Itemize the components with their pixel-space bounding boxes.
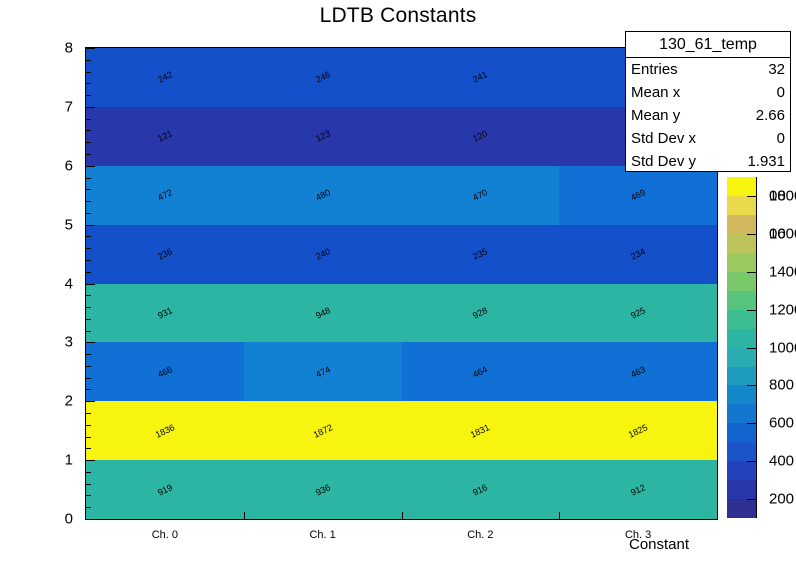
palette-swatch xyxy=(727,366,756,385)
y-axis-minor-tick xyxy=(86,366,91,367)
stats-row-value: 1.931 xyxy=(747,150,785,173)
palette-tick-label: 800 xyxy=(769,377,794,394)
x-axis-divider-tick xyxy=(244,512,245,519)
y-axis-minor-tick xyxy=(86,201,91,202)
palette-swatch xyxy=(727,234,756,253)
palette-tick xyxy=(747,348,756,349)
palette-swatch xyxy=(727,404,756,423)
y-axis-minor-tick xyxy=(86,119,91,120)
y-axis-minor-tick xyxy=(86,213,91,214)
palette-swatch xyxy=(727,329,756,348)
stats-row-value: 32 xyxy=(768,58,785,81)
y-axis-tick-label: 1 xyxy=(65,452,73,469)
y-axis-minor-tick xyxy=(86,413,91,414)
y-axis-minor-tick xyxy=(86,425,91,426)
palette-swatch xyxy=(727,480,756,499)
stats-row-value: 0 xyxy=(777,81,785,104)
y-axis-minor-tick xyxy=(86,319,91,320)
y-axis-tick-label: 5 xyxy=(65,216,73,233)
stats-row: Std Dev x0 xyxy=(626,127,790,150)
palette-swatch xyxy=(727,348,756,367)
x-axis-tick-label: Ch. 2 xyxy=(467,529,493,541)
palette-tick xyxy=(747,310,756,311)
stats-row: Std Dev y1.931 xyxy=(626,150,790,173)
y-axis-minor-tick xyxy=(86,154,91,155)
palette-swatch xyxy=(727,196,756,215)
y-axis-tick xyxy=(86,225,95,226)
palette-tick-label: 200 xyxy=(769,491,794,508)
x-axis-tick-label: Ch. 0 xyxy=(152,529,178,541)
plot-frame: 2422462411211231204724804704692362402352… xyxy=(85,47,718,520)
stats-row-value: 0 xyxy=(777,127,785,150)
y-axis-tick-label: 6 xyxy=(65,157,73,174)
y-axis-minor-tick xyxy=(86,130,91,131)
heatmap-cells: 2422462411211231204724804704692362402352… xyxy=(86,48,717,519)
y-axis-minor-tick xyxy=(86,178,91,179)
y-axis-minor-tick xyxy=(86,484,91,485)
y-axis-tick xyxy=(86,342,95,343)
y-axis-minor-tick xyxy=(86,83,91,84)
palette-axis-line xyxy=(756,177,757,518)
stats-row-key: Mean y xyxy=(631,104,680,127)
y-axis-tick xyxy=(86,48,95,49)
color-palette: 20040060080010001200140016001800 xyxy=(727,177,756,518)
y-axis-minor-tick xyxy=(86,389,91,390)
y-axis-minor-tick xyxy=(86,307,91,308)
y-axis-minor-tick xyxy=(86,448,91,449)
y-axis-tick xyxy=(86,166,95,167)
palette-tick-label: 1400 xyxy=(769,263,796,280)
palette-swatch xyxy=(727,442,756,461)
palette-tick xyxy=(747,196,756,197)
stats-box-rows: Entries32Mean x0Mean y2.66Std Dev x0Std … xyxy=(626,58,790,173)
y-axis-minor-tick xyxy=(86,60,91,61)
y-axis-minor-tick xyxy=(86,437,91,438)
palette-swatch xyxy=(727,461,756,480)
y-axis-minor-tick xyxy=(86,495,91,496)
palette-tick xyxy=(747,234,756,235)
palette-swatch xyxy=(727,499,756,518)
palette-tick-label: 1000 xyxy=(769,339,796,356)
y-axis-minor-tick xyxy=(86,295,91,296)
palette-tick xyxy=(747,423,756,424)
palette-tick-label-occluded: 00 xyxy=(769,187,786,204)
palette-tick xyxy=(747,385,756,386)
y-axis-tick xyxy=(86,107,95,108)
palette-tick xyxy=(747,272,756,273)
y-axis-tick-label: 4 xyxy=(65,275,73,292)
stats-row: Mean x0 xyxy=(626,81,790,104)
y-axis-tick-label: 0 xyxy=(65,511,73,528)
y-axis-minor-tick xyxy=(86,472,91,473)
stats-row-key: Entries xyxy=(631,58,678,81)
y-axis-minor-tick xyxy=(86,260,91,261)
x-axis-divider-tick xyxy=(559,512,560,519)
y-axis-tick xyxy=(86,284,95,285)
stats-row-value: 2.66 xyxy=(756,104,785,127)
y-axis-tick-label: 2 xyxy=(65,393,73,410)
palette-tick-label: 600 xyxy=(769,415,794,432)
y-axis-tick-label: 8 xyxy=(65,40,73,57)
x-axis-title: Constant xyxy=(629,536,689,553)
palette-swatch xyxy=(727,385,756,404)
page-title: LDTB Constants xyxy=(0,4,796,28)
palette-swatch xyxy=(727,272,756,291)
stats-row-key: Std Dev y xyxy=(631,150,696,173)
y-axis-minor-tick xyxy=(86,189,91,190)
palette-tick xyxy=(747,461,756,462)
y-axis-tick-label: 3 xyxy=(65,334,73,351)
stats-row-key: Std Dev x xyxy=(631,127,696,150)
y-axis-minor-tick xyxy=(86,236,91,237)
palette-swatch xyxy=(727,423,756,442)
y-axis-minor-tick xyxy=(86,95,91,96)
stats-row-key: Mean x xyxy=(631,81,680,104)
y-axis-minor-tick xyxy=(86,248,91,249)
stats-box-title: 130_61_temp xyxy=(626,32,790,58)
palette-tick-label: 400 xyxy=(769,453,794,470)
root-canvas: LDTB Constants 2422462411211231204724804… xyxy=(0,0,796,572)
stats-box: 130_61_temp Entries32Mean x0Mean y2.66St… xyxy=(625,31,791,172)
y-axis-minor-tick xyxy=(86,272,91,273)
palette-tick xyxy=(747,499,756,500)
stats-row: Entries32 xyxy=(626,58,790,81)
palette-swatch xyxy=(727,291,756,310)
y-axis-minor-tick xyxy=(86,507,91,508)
y-axis-tick xyxy=(86,401,95,402)
palette-swatch xyxy=(727,177,756,196)
y-axis-tick-label: 7 xyxy=(65,98,73,115)
stats-row: Mean y2.66 xyxy=(626,104,790,127)
y-axis-tick xyxy=(86,519,95,520)
x-axis-tick-label: Ch. 1 xyxy=(309,529,335,541)
y-axis-tick xyxy=(86,460,95,461)
x-axis-divider-tick xyxy=(402,512,403,519)
y-axis-minor-tick xyxy=(86,354,91,355)
palette-tick-label: 1200 xyxy=(769,301,796,318)
palette-tick-label-occluded: 00 xyxy=(769,225,786,242)
y-axis-minor-tick xyxy=(86,331,91,332)
y-axis-minor-tick xyxy=(86,142,91,143)
palette-swatch xyxy=(727,215,756,234)
palette-swatch xyxy=(727,253,756,272)
y-axis-minor-tick xyxy=(86,378,91,379)
y-axis-minor-tick xyxy=(86,72,91,73)
palette-swatch xyxy=(727,310,756,329)
